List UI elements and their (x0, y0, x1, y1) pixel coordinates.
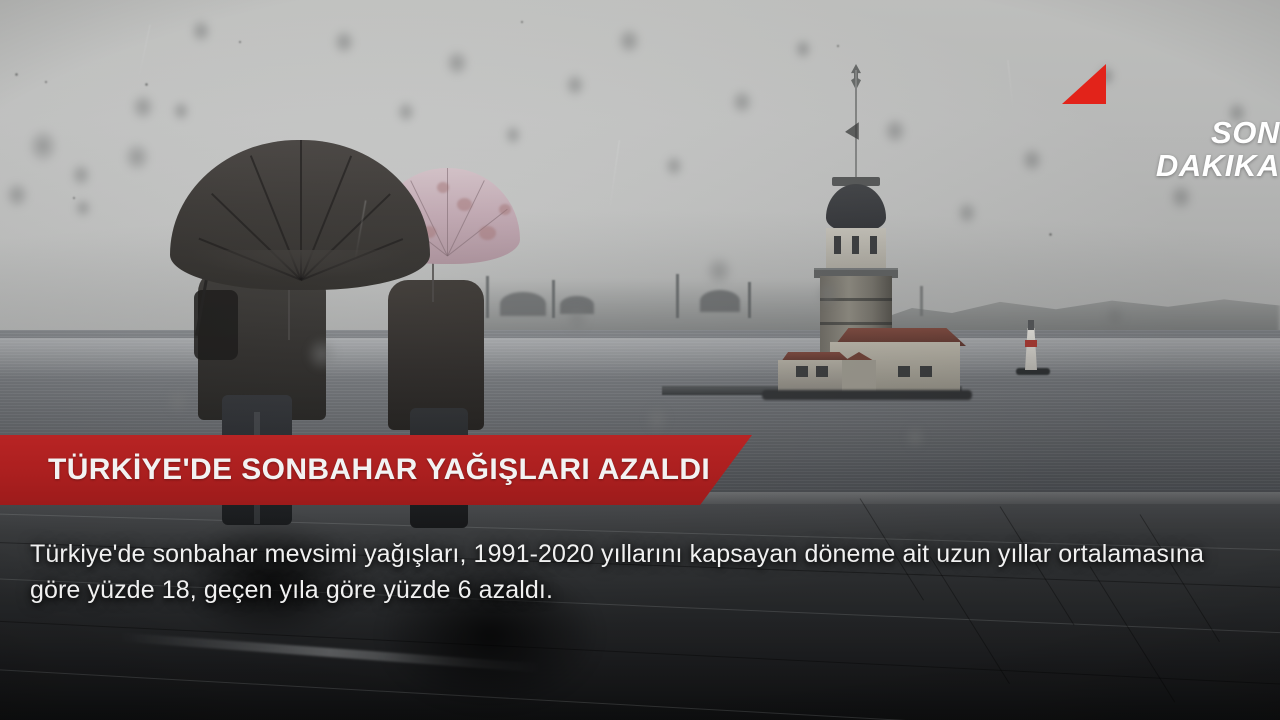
breaking-line-1: SON (1020, 116, 1280, 149)
red-triangle-icon (1062, 64, 1106, 108)
summary-text: Türkiye'de sonbahar mevsimi yağışları, 1… (30, 536, 1225, 608)
breaking-news-label: SON DAKIKA (1020, 116, 1280, 182)
breaking-line-2: DAKIKA (1020, 149, 1280, 182)
background-photo (0, 0, 1280, 720)
breaking-news-badge: SON DAKIKA (1062, 64, 1162, 108)
headline-text: TÜRKİYE'DE SONBAHAR YAĞIŞLARI AZALDI (0, 453, 710, 487)
news-graphic: SON DAKIKA TÜRKİYE'DE SONBAHAR YAĞIŞLARI… (0, 0, 1280, 720)
headline-banner: TÜRKİYE'DE SONBAHAR YAĞIŞLARI AZALDI (0, 435, 752, 505)
rain-drops-overlay (0, 0, 1280, 720)
